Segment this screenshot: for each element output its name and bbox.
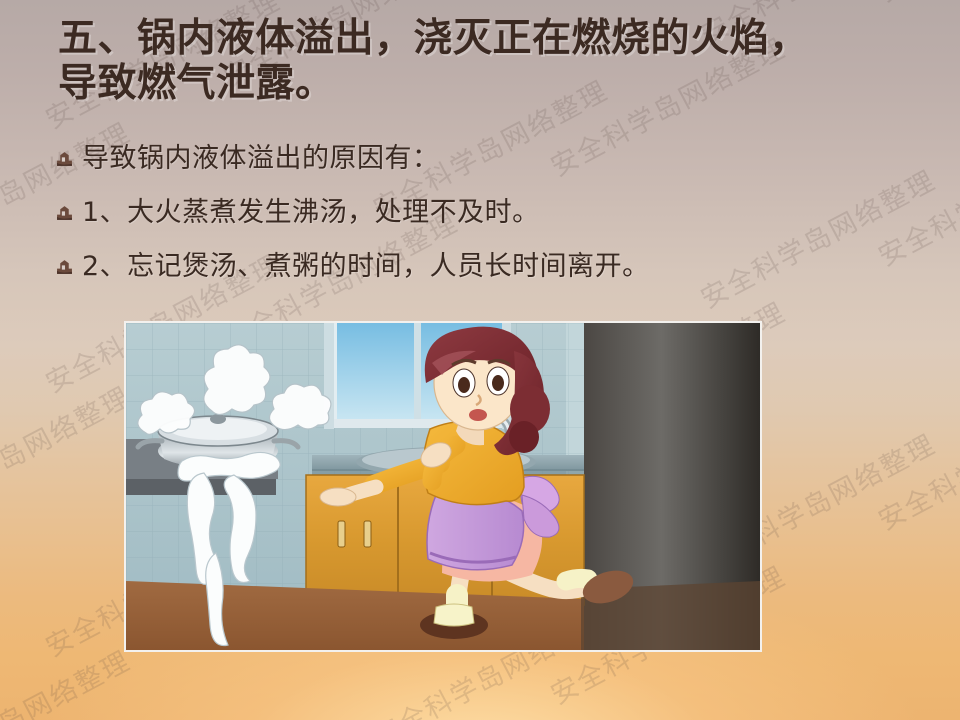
- watermark-text: 安全科学岛网络整理: [0, 375, 136, 532]
- house-bullet-icon: [56, 151, 73, 168]
- bullet-item: 导致锅内液体溢出的原因有：: [56, 142, 916, 175]
- house-bullet-icon: [56, 259, 73, 276]
- house-bullet-icon: [56, 205, 73, 222]
- slide-canvas: 安全科学岛网络整理安全科学岛网络整理安全科学岛网络整理安全科学岛网络整理安全科学…: [0, 0, 960, 720]
- watermark-text: 安全科学岛网络整理: [870, 0, 960, 10]
- watermark-text: 安全科学岛网络整理: [0, 639, 136, 720]
- slide-title: 五、锅内液体溢出，浇灭正在燃烧的火焰， 导致燃气泄露。: [58, 16, 918, 106]
- bullet-text: 2、忘记煲汤、煮粥的时间，人员长时间离开。: [82, 250, 650, 283]
- title-line-1: 五、锅内液体溢出，浇灭正在燃烧的火焰，: [58, 16, 918, 61]
- bullet-item: 1、大火蒸煮发生沸汤，处理不及时。: [56, 196, 916, 229]
- bullet-text: 导致锅内液体溢出的原因有：: [82, 142, 440, 175]
- watermark-text: 安全科学岛网络整理: [0, 0, 136, 4]
- bullet-text: 1、大火蒸煮发生沸汤，处理不及时。: [82, 196, 540, 229]
- bullet-list: 导致锅内液体溢出的原因有： 1、大火蒸煮发生沸汤，处理不及时。 2、忘记: [56, 142, 916, 304]
- title-line-2: 导致燃气泄露。: [58, 61, 918, 106]
- kitchen-pot-boil-over-illustration: [124, 321, 762, 652]
- bullet-item: 2、忘记煲汤、煮粥的时间，人员长时间离开。: [56, 250, 916, 283]
- watermark-text: 安全科学岛网络整理: [870, 381, 960, 538]
- illustration-svg: [126, 323, 760, 650]
